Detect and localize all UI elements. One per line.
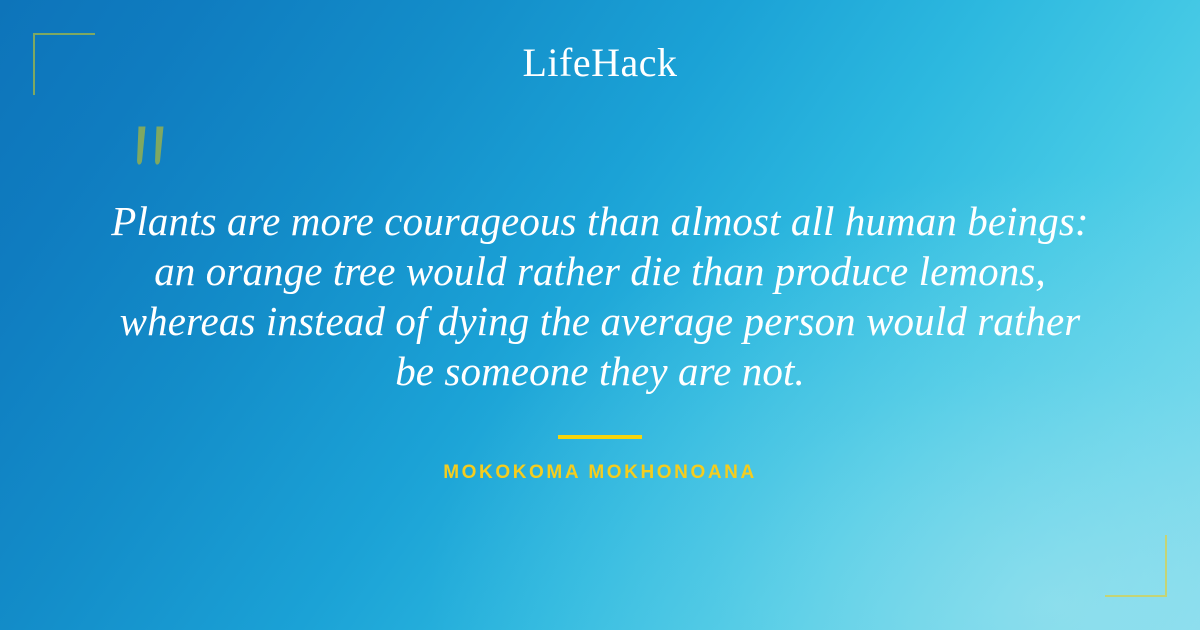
quote-line: Plants are more courageous than almost a… [95,196,1105,246]
quote-text: Plants are more courageous than almost a… [95,196,1105,396]
quote-card: LifeHack Plants are more courageous than… [0,0,1200,630]
corner-bracket-bottom-right-icon [1105,535,1167,597]
author-divider [558,435,642,439]
author-name: MOKOKOMA MOKHONOANA [0,462,1200,484]
quote-line: an orange tree would rather die than pro… [95,246,1105,296]
brand-logo: LifeHack [0,40,1200,86]
quote-line: whereas instead of dying the average per… [95,296,1105,346]
quote-line: be someone they are not. [95,346,1105,396]
double-prime-quote-icon [132,126,176,168]
